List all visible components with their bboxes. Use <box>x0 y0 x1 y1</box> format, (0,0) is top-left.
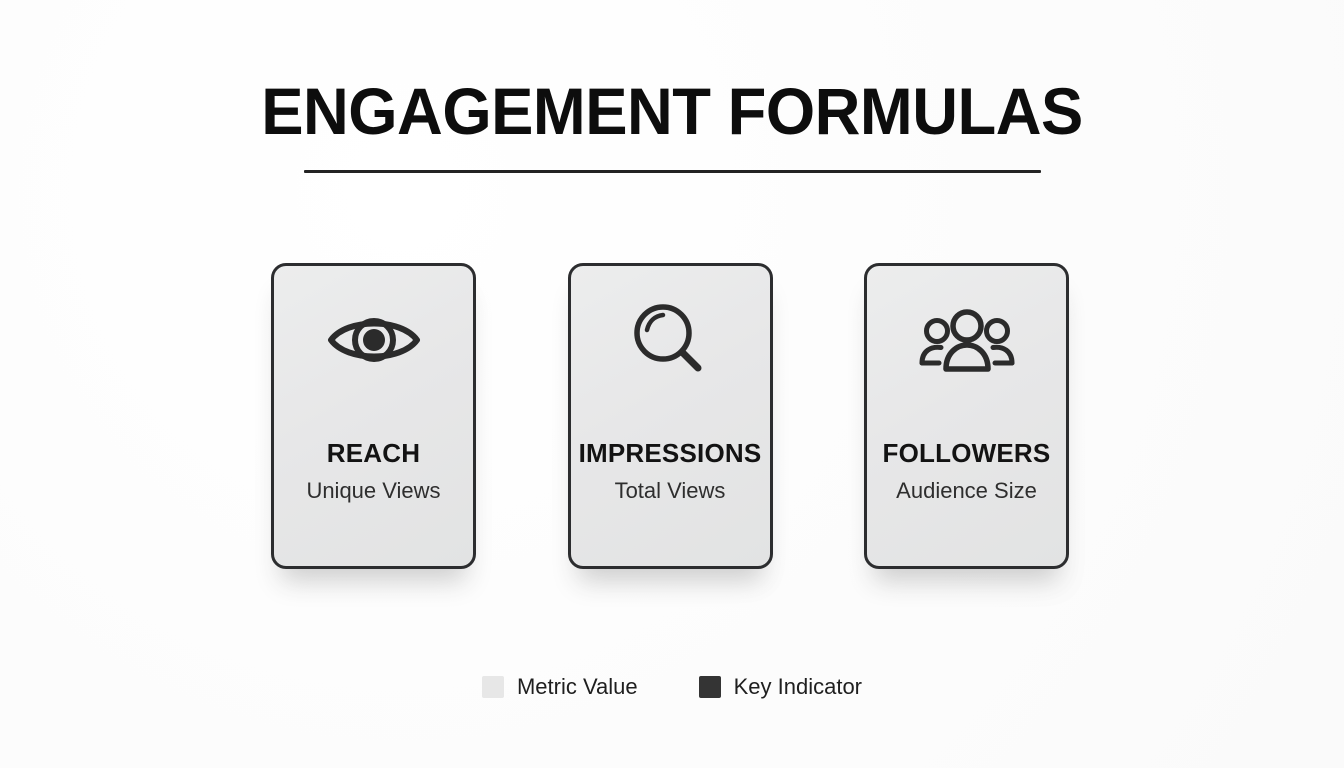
metric-card-followers[interactable]: FOLLOWERS Audience Size <box>864 263 1069 569</box>
metric-card-title: REACH <box>274 438 473 469</box>
legend-swatch-icon <box>482 676 504 698</box>
page-title: ENGAGEMENT FORMULAS <box>27 78 1317 144</box>
magnifier-icon <box>629 299 711 381</box>
eye-icon <box>325 299 423 381</box>
legend-item-key-indicator: Key Indicator <box>699 676 862 698</box>
title-block: ENGAGEMENT FORMULAS <box>0 78 1344 173</box>
legend: Metric Value Key Indicator <box>0 676 1344 698</box>
metric-card-subtitle: Total Views <box>571 478 770 504</box>
legend-label: Metric Value <box>517 676 638 698</box>
metric-cards-row: REACH Unique Views IMPRESSIONS Total Vie… <box>271 263 1069 569</box>
metric-card-subtitle: Audience Size <box>867 478 1066 504</box>
slide-canvas: ENGAGEMENT FORMULAS REACH Unique Views <box>0 0 1344 768</box>
metric-card-impressions[interactable]: IMPRESSIONS Total Views <box>568 263 773 569</box>
metric-card-title: IMPRESSIONS <box>571 438 770 469</box>
metric-card-reach[interactable]: REACH Unique Views <box>271 263 476 569</box>
people-group-icon <box>919 299 1015 381</box>
metric-card-subtitle: Unique Views <box>274 478 473 504</box>
metric-card-text: IMPRESSIONS Total Views <box>571 438 770 505</box>
legend-swatch-icon <box>699 676 721 698</box>
legend-label: Key Indicator <box>734 676 862 698</box>
title-divider <box>304 170 1041 173</box>
legend-item-metric-value: Metric Value <box>482 676 638 698</box>
metric-card-title: FOLLOWERS <box>867 438 1066 469</box>
metric-card-text: FOLLOWERS Audience Size <box>867 438 1066 505</box>
metric-card-text: REACH Unique Views <box>274 438 473 505</box>
